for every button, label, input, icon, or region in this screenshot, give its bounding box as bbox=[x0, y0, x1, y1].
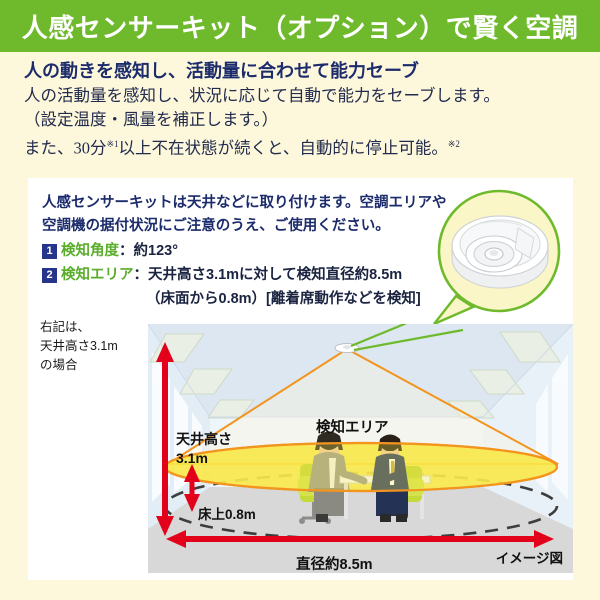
spec-item-2: 2 検知エリア ：天井高さ3.1mに対して検知直径約8.5m bbox=[42, 265, 472, 286]
infographic-page: 人感センサーキット（オプション）で賢く空調 人の動きを感知し、活動量に合わせて能… bbox=[0, 0, 600, 600]
footnote-marker-2: ※2 bbox=[448, 139, 460, 149]
intro-block: 人の動きを感知し、活動量に合わせて能力セーブ 人の活動量を感知し、状況に応じて自… bbox=[24, 58, 584, 161]
left-note-line-1: 右記は、 bbox=[40, 318, 136, 337]
spec-number-badge-1: 1 bbox=[42, 244, 57, 259]
panel-lead-line-2: 空調機の据付状況にご注意のうえ、ご使用ください。 bbox=[42, 215, 472, 238]
ceiling-height-label: 天井高さ 3.1m bbox=[176, 430, 232, 468]
header-banner: 人感センサーキット（オプション）で賢く空調 bbox=[0, 0, 600, 52]
panel-lead-line-1: 人感センサーキットは天井などに取り付けます。空調エリアや bbox=[42, 192, 472, 215]
image-caption: イメージ図 bbox=[496, 547, 563, 567]
floor-height-label: 床上0.8m bbox=[198, 503, 256, 523]
intro-line-3-text-b: 以上不在状態が続くと、自動的に停止可能。 bbox=[119, 139, 448, 158]
spec-list: 1 検知角度 ：約123° 2 検知エリア ：天井高さ3.1mに対して検知直径約… bbox=[42, 241, 472, 310]
intro-line-3-text-a: また、30分 bbox=[24, 139, 107, 158]
spec-item-1: 1 検知角度 ：約123° bbox=[42, 241, 472, 262]
spec-value-1: ：約123° bbox=[119, 241, 178, 262]
ceiling-height-line-2: 3.1m bbox=[176, 449, 232, 468]
intro-line-1: 人の活動量を感知し、状況に応じて自動で能力をセーブします。 bbox=[24, 84, 584, 108]
detection-area-label: 検知エリア bbox=[316, 416, 389, 437]
intro-line-2: （設定温度・風量を補正します。） bbox=[24, 108, 584, 132]
left-note-line-3: の場合 bbox=[40, 356, 136, 375]
footnote-marker-1: ※1 bbox=[107, 139, 119, 149]
spec-label-1: 検知角度 bbox=[61, 241, 119, 262]
banner-title: 人感センサーキット（オプション）で賢く空調 bbox=[22, 8, 579, 45]
left-note-line-2: 天井高さ3.1m bbox=[40, 337, 136, 356]
intro-line-3: また、30分※1以上不在状態が続くと、自動的に停止可能。※2 bbox=[24, 132, 584, 161]
diameter-label: 直径約8.5m bbox=[296, 553, 373, 574]
panel-lead-text: 人感センサーキットは天井などに取り付けます。空調エリアや 空調機の据付状況にご注… bbox=[42, 192, 472, 238]
ceiling-height-line-1: 天井高さ bbox=[176, 430, 232, 449]
spec-number-badge-2: 2 bbox=[42, 268, 57, 283]
spec-value-2: ：天井高さ3.1mに対して検知直径約8.5m bbox=[134, 265, 403, 286]
spec-subtext-2: （床面から0.8m）[離着席動作などを検知] bbox=[146, 289, 472, 310]
spec-label-2: 検知エリア bbox=[61, 265, 134, 286]
intro-headline: 人の動きを感知し、活動量に合わせて能力セーブ bbox=[24, 58, 584, 84]
left-note: 右記は、 天井高さ3.1m の場合 bbox=[40, 318, 136, 375]
content-panel: 人感センサーキットは天井などに取り付けます。空調エリアや 空調機の据付状況にご注… bbox=[28, 178, 573, 580]
sensor-callout-balloon bbox=[426, 184, 568, 326]
sensor-unit-graphic bbox=[452, 216, 548, 288]
